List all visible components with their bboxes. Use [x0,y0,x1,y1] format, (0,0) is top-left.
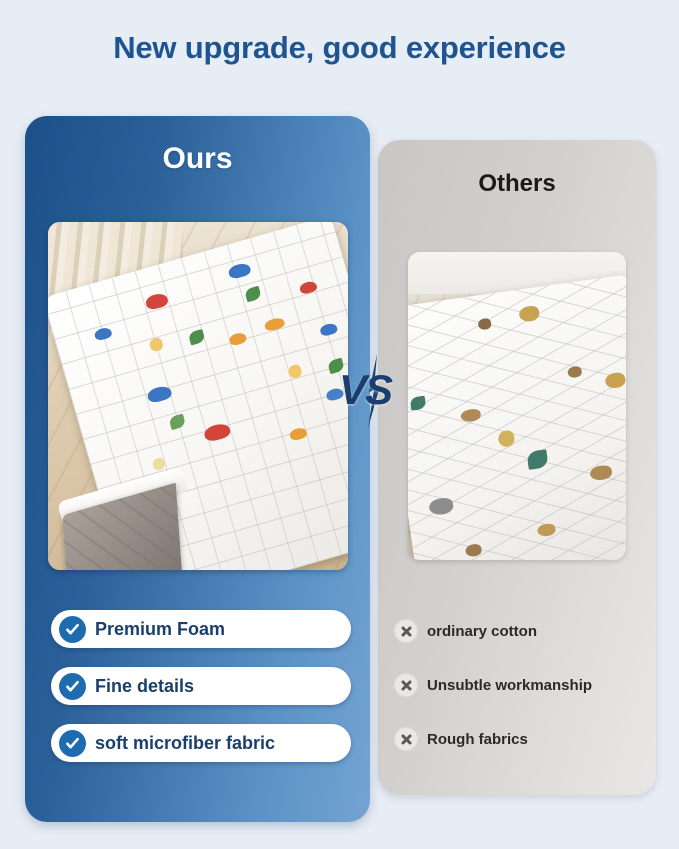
drawback-label: Unsubtle workmanship [427,677,592,694]
mattress-pad [408,274,626,560]
ours-heading: Ours [25,142,370,176]
feature-pill: Fine details [51,667,351,705]
check-circle-icon [59,730,86,757]
vs-badge: VS [339,366,391,414]
x-circle-icon [394,673,418,697]
drawback-row: ordinary cotton [394,618,650,644]
drawback-row: Rough fabrics [394,726,650,752]
feature-pill: Premium Foam [51,610,351,648]
others-panel: Others [378,140,656,795]
page-title: New upgrade, good experience [0,30,679,66]
feature-pill: soft microfiber fabric [51,724,351,762]
feature-label: Premium Foam [95,619,225,640]
ours-product-photo [48,222,348,570]
check-circle-icon [59,616,86,643]
ours-feature-list: Premium Foam Fine details soft microfibe… [51,610,351,781]
drawback-label: Rough fabrics [427,731,528,748]
drawback-row: Unsubtle workmanship [394,672,650,698]
others-heading: Others [378,170,656,198]
others-product-photo [408,252,626,560]
x-circle-icon [394,619,418,643]
drawback-label: ordinary cotton [427,623,537,640]
feature-label: Fine details [95,676,194,697]
ours-panel: Ours [25,116,370,822]
x-circle-icon [394,727,418,751]
feature-label: soft microfiber fabric [95,733,275,754]
others-drawback-list: ordinary cotton Unsubtle workmanship Rou… [394,618,650,780]
check-circle-icon [59,673,86,700]
